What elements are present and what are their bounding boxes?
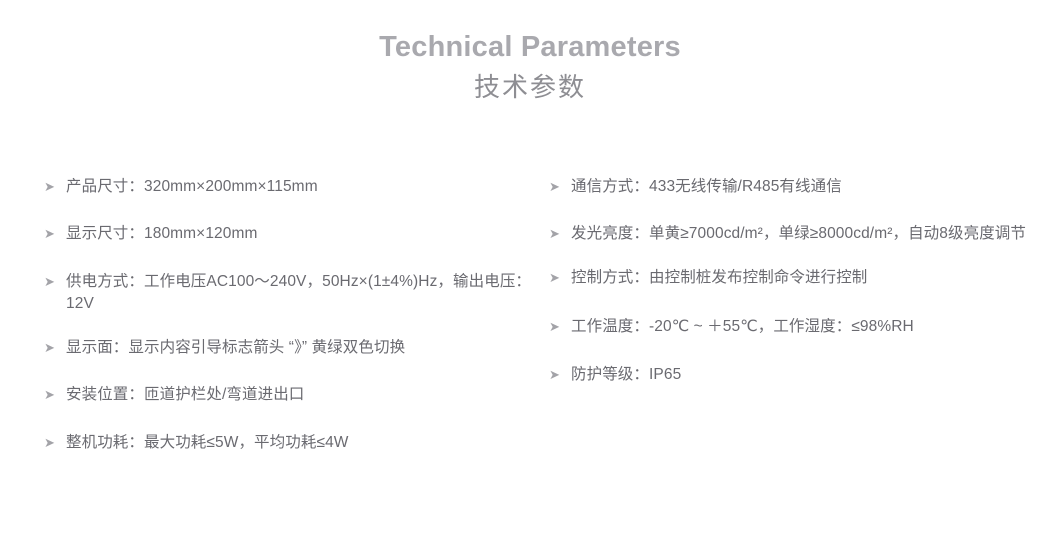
spec-columns: ➤ 产品尺寸：320mm×200mm×115mm ➤ 显示尺寸：180mm×12… [0, 176, 1060, 454]
technical-parameters-page: Technical Parameters 技术参数 ➤ 产品尺寸：320mm×2… [0, 0, 1060, 535]
arrowhead-bullet-icon: ➤ [44, 271, 66, 293]
spec-item-text: 控制方式：由控制桩发布控制命令进行控制 [571, 267, 1050, 289]
spec-item-text: 供电方式：工作电压AC100～240V，50Hz×(1±4%)Hz，输出电压：1… [66, 271, 537, 315]
arrowhead-bullet-icon: ➤ [549, 364, 571, 386]
spec-item: ➤ 防护等级：IP65 [549, 364, 1050, 386]
arrowhead-bullet-icon: ➤ [549, 223, 571, 245]
spec-item: ➤ 产品尺寸：320mm×200mm×115mm [44, 176, 537, 198]
arrowhead-bullet-icon: ➤ [549, 176, 571, 198]
page-heading: Technical Parameters 技术参数 [0, 0, 1060, 104]
spec-item-text: 防护等级：IP65 [571, 364, 1050, 386]
spec-item-text: 整机功耗：最大功耗≤5W，平均功耗≤4W [66, 432, 537, 454]
spec-item-text: 工作温度：-20℃ ~ ＋55℃，工作湿度：≤98%RH [571, 316, 1050, 338]
spec-item-text: 显示尺寸：180mm×120mm [66, 223, 537, 245]
spec-item-text: 产品尺寸：320mm×200mm×115mm [66, 176, 537, 198]
spec-column-left: ➤ 产品尺寸：320mm×200mm×115mm ➤ 显示尺寸：180mm×12… [0, 176, 545, 454]
arrowhead-bullet-icon: ➤ [44, 432, 66, 454]
arrowhead-bullet-icon: ➤ [44, 337, 66, 359]
page-title-chinese: 技术参数 [0, 70, 1060, 104]
spec-item-text: 显示面：显示内容引导标志箭头 “》” 黄绿双色切换 [66, 337, 537, 359]
arrowhead-bullet-icon: ➤ [549, 316, 571, 338]
spec-item: ➤ 安装位置：匝道护栏处/弯道进出口 [44, 384, 537, 406]
page-title-english: Technical Parameters [0, 30, 1060, 64]
spec-item-text: 发光亮度：单黄≥7000cd/m²，单绿≥8000cd/m²，自动8级亮度调节 [571, 223, 1050, 245]
arrowhead-bullet-icon: ➤ [44, 223, 66, 245]
spec-item: ➤ 显示尺寸：180mm×120mm [44, 223, 537, 245]
spec-item: ➤ 供电方式：工作电压AC100～240V，50Hz×(1±4%)Hz，输出电压… [44, 271, 537, 315]
spec-item-text: 安装位置：匝道护栏处/弯道进出口 [66, 384, 537, 406]
spec-item: ➤ 通信方式：433无线传输/R485有线通信 [549, 176, 1050, 198]
arrowhead-bullet-icon: ➤ [44, 384, 66, 406]
spec-item: ➤ 控制方式：由控制桩发布控制命令进行控制 [549, 267, 1050, 289]
spec-item: ➤ 工作温度：-20℃ ~ ＋55℃，工作湿度：≤98%RH [549, 316, 1050, 338]
arrowhead-bullet-icon: ➤ [44, 176, 66, 198]
arrowhead-bullet-icon: ➤ [549, 267, 571, 289]
spec-column-right: ➤ 通信方式：433无线传输/R485有线通信 ➤ 发光亮度：单黄≥7000cd… [545, 176, 1060, 386]
spec-item: ➤ 发光亮度：单黄≥7000cd/m²，单绿≥8000cd/m²，自动8级亮度调… [549, 223, 1050, 245]
spec-item-text: 通信方式：433无线传输/R485有线通信 [571, 176, 1050, 198]
spec-item: ➤ 整机功耗：最大功耗≤5W，平均功耗≤4W [44, 432, 537, 454]
spec-item: ➤ 显示面：显示内容引导标志箭头 “》” 黄绿双色切换 [44, 337, 537, 359]
